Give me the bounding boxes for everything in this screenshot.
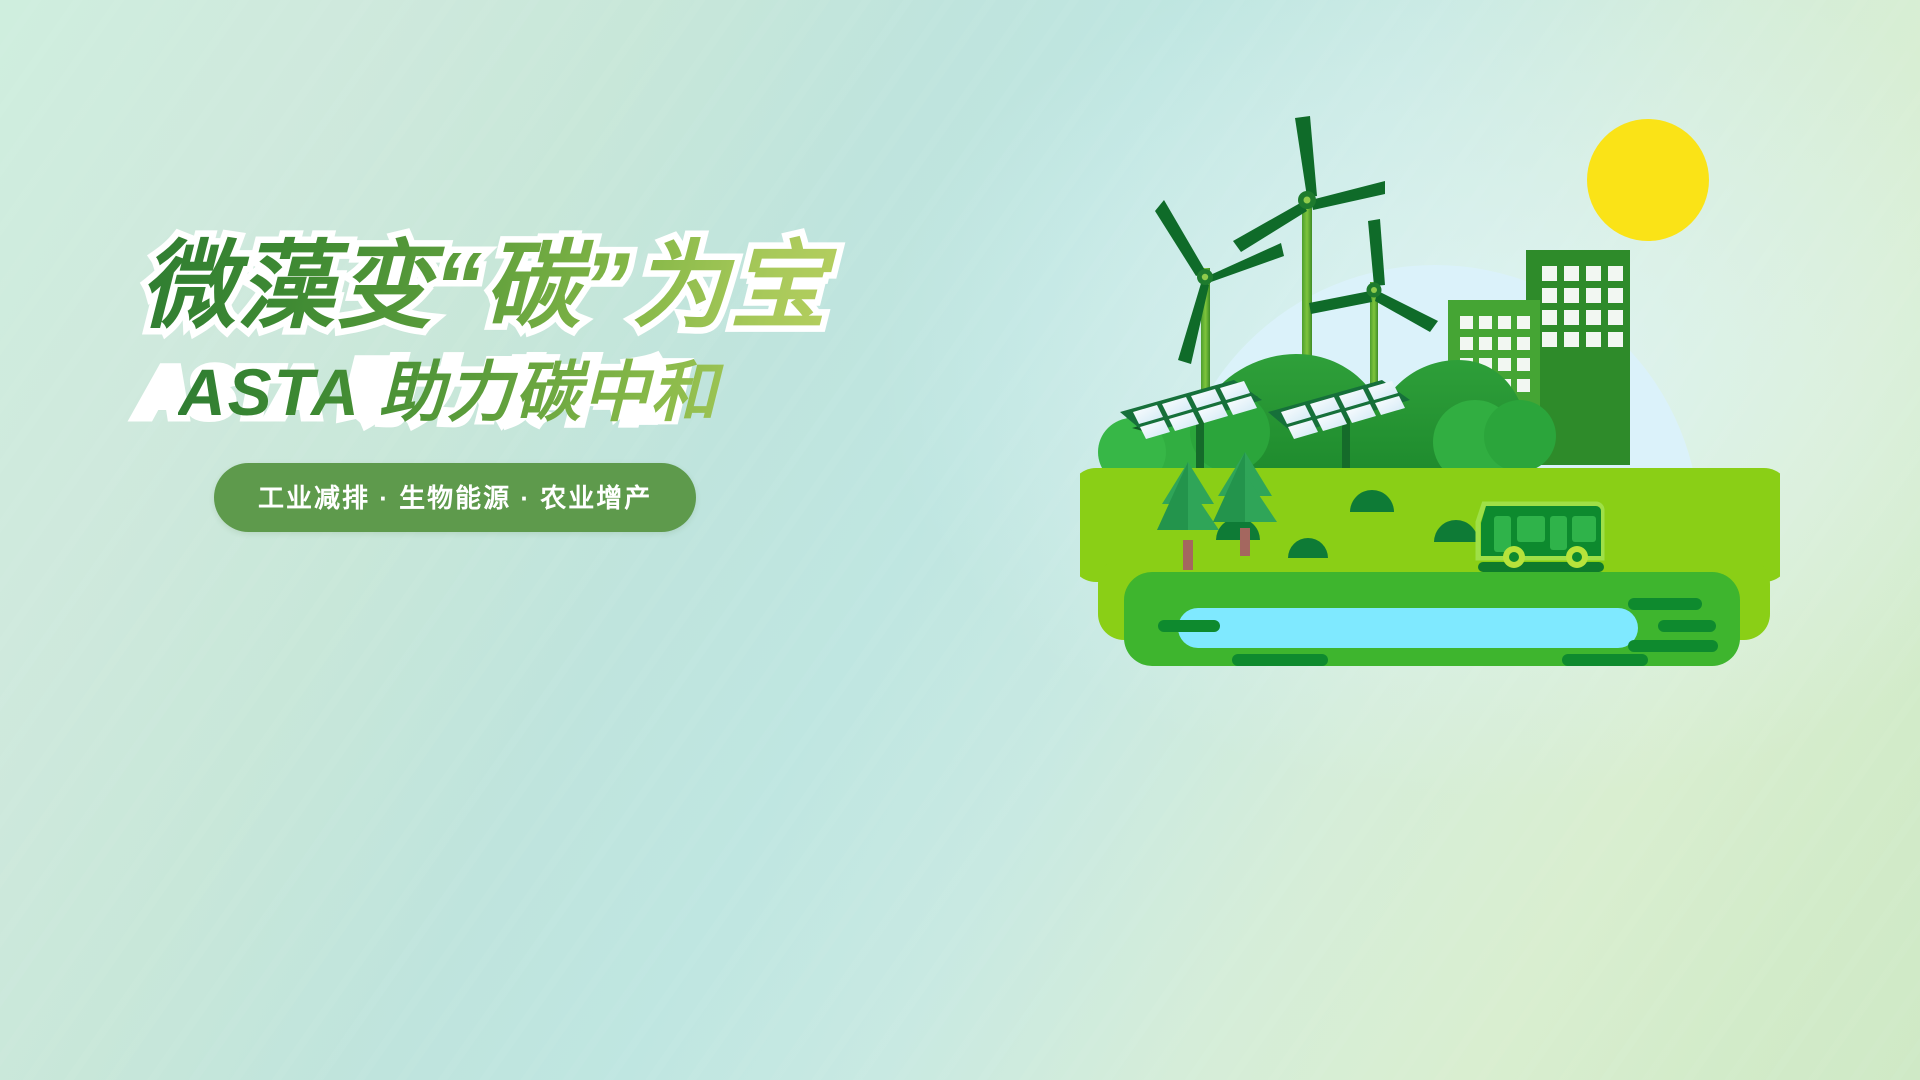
headline-wrapper: 微藻变“碳”为宝 微藻变“碳”为宝 <box>140 235 860 345</box>
subhead-wrapper: ASTA 助力碳中和 ASTA 助力碳中和 <box>140 357 860 433</box>
keywords-badge: 工业减排 · 生物能源 · 农业增产 <box>214 463 696 532</box>
page-title: 微藻变“碳”为宝 <box>140 235 860 345</box>
illustration-eco-city <box>1080 60 1780 680</box>
text-block: 微藻变“碳”为宝 微藻变“碳”为宝 ASTA 助力碳中和 ASTA 助力碳中和 … <box>140 235 860 532</box>
page-subtitle: ASTA 助力碳中和 <box>178 357 860 433</box>
lake-area <box>1124 572 1740 666</box>
sun-icon <box>1587 119 1709 241</box>
eco-banner: 微藻变“碳”为宝 微藻变“碳”为宝 ASTA 助力碳中和 ASTA 助力碳中和 … <box>0 0 1920 1080</box>
